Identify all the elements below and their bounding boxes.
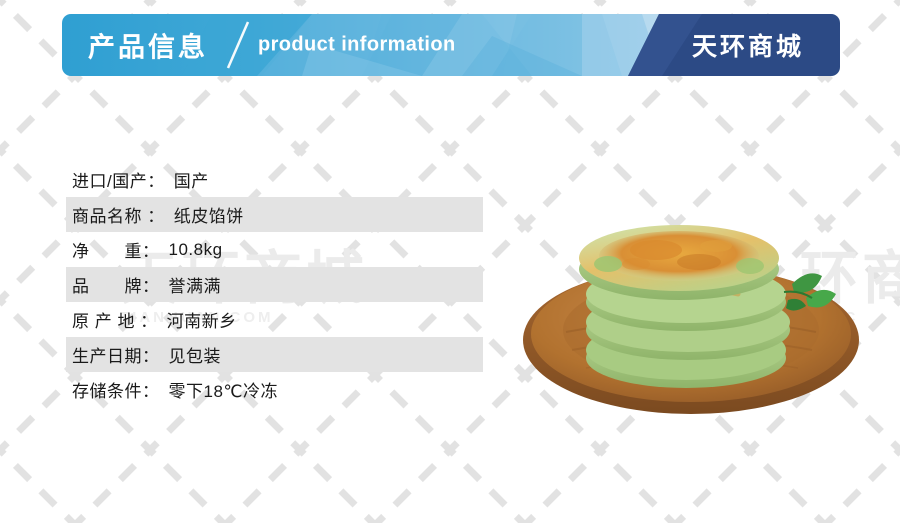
spec-row-origin-type: 进口/国产： 国产 bbox=[66, 162, 483, 197]
spec-row-place-of-origin: 原 产 地 ： 河南新乡 bbox=[66, 302, 483, 337]
spec-value: 10.8kg bbox=[169, 240, 223, 260]
product-spec-list: 进口/国产： 国产 商品名称 ： 纸皮馅饼 净 重： 10.8kg 品 牌： 誉… bbox=[66, 162, 483, 407]
product-photo-illustration bbox=[516, 172, 866, 428]
spec-label: 原 产 地 ： bbox=[72, 307, 158, 332]
header-banner: 产品信息 product information 天环商城 bbox=[62, 14, 840, 76]
banner-title-cn: 产品信息 bbox=[88, 26, 208, 65]
spec-row-net-weight: 净 重： 10.8kg bbox=[66, 232, 483, 267]
spec-value: 河南新乡 bbox=[167, 307, 237, 332]
spec-row-production-date: 生产日期： 见包装 bbox=[66, 337, 483, 372]
spec-value: 纸皮馅饼 bbox=[174, 202, 244, 227]
spec-value: 零下18℃冷冻 bbox=[169, 377, 279, 402]
spec-row-brand: 品 牌： 誉满满 bbox=[66, 267, 483, 302]
spec-label: 商品名称 ： bbox=[72, 202, 165, 227]
spec-row-storage-condition: 存储条件： 零下18℃冷冻 bbox=[66, 372, 483, 407]
spec-label: 净 重： bbox=[72, 237, 160, 262]
spec-label: 品 牌： bbox=[72, 272, 160, 297]
spec-label: 生产日期： bbox=[72, 342, 160, 367]
product-photo bbox=[516, 172, 866, 428]
banner-title-en: product information bbox=[258, 34, 456, 57]
spec-label: 存储条件： bbox=[72, 377, 160, 402]
spec-row-product-name: 商品名称 ： 纸皮馅饼 bbox=[66, 197, 483, 232]
spec-value: 国产 bbox=[174, 167, 209, 192]
spec-value: 誉满满 bbox=[169, 272, 222, 297]
spec-value: 见包装 bbox=[169, 342, 222, 367]
banner-brand-label: 天环商城 bbox=[692, 27, 804, 63]
spec-label: 进口/国产： bbox=[72, 167, 165, 192]
product-information-page: 天环商城 TIANHUAN.COM 环商 KET.C bbox=[0, 0, 900, 523]
